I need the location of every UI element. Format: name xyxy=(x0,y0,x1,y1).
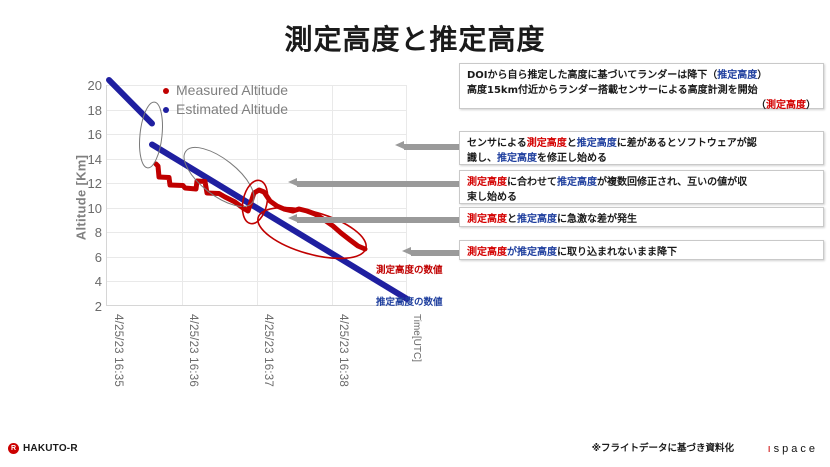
annotation-text-run: が xyxy=(507,247,517,258)
annotation-line: 測定高度が推定高度に取り込まれないまま降下 xyxy=(467,245,816,260)
slide-root: 測定高度と推定高度 Altitude [Km] 2018161412108642 xyxy=(0,0,830,467)
annotation-line: （測定高度） xyxy=(467,98,816,113)
annotation-text-run: 推定高度 xyxy=(517,214,557,225)
y-axis-tick: 2 xyxy=(68,300,102,313)
annotation-line: 測定高度と推定高度に急激な差が発生 xyxy=(467,212,816,227)
y-axis-ticks: 2018161412108642 xyxy=(58,78,102,310)
annotation-text-run: DOIから自ら推定した高度に基づいてランダーは降下（ xyxy=(467,70,717,81)
callout-arrow-2 xyxy=(395,141,459,150)
legend-label: Estimated Altitude xyxy=(176,100,288,119)
x-axis-tick: 4/25/23 16:37 xyxy=(258,314,274,387)
annotation-note-2: センサによる測定高度と推定高度に差があるとソフトウェアが認識し、推定高度を修正し… xyxy=(459,131,824,165)
callout-arrow-3 xyxy=(288,178,459,187)
inline-caption-estimated: 推定高度の数値 xyxy=(376,294,443,308)
chart-legend: Measured AltitudeEstimated Altitude xyxy=(163,81,288,119)
annotation-text-run: に合わせて xyxy=(507,177,557,188)
annotation-text-run: 測定高度 xyxy=(467,177,507,188)
annotation-text-run: 識し、 xyxy=(467,153,497,164)
footer-footnote: ※フライトデータに基づき資料化 xyxy=(592,440,734,454)
annotation-text-run: 推定高度 xyxy=(497,153,537,164)
x-axis-tick: 4/25/23 16:36 xyxy=(183,314,199,387)
annotation-text-run: と xyxy=(567,138,577,149)
hakuto-r-logo: R HAKUTO-R xyxy=(8,443,78,454)
annotation-text-run: を修正し始める xyxy=(537,153,607,164)
annotation-note-1: DOIから自ら推定した高度に基づいてランダーは降下（推定高度）高度15km付近か… xyxy=(459,63,824,109)
y-axis-tick: 10 xyxy=(68,202,102,215)
annotation-text-run: 測定高度 xyxy=(467,214,507,225)
annotation-text-run: に取り込まれないまま降下 xyxy=(557,247,677,258)
annotation-text-run: 高度15km付近からランダー搭載センサーによる高度計測を開始 xyxy=(467,85,758,96)
annotation-text-run: 束し始める xyxy=(467,192,517,203)
y-axis-tick: 8 xyxy=(68,226,102,239)
annotation-text-run: 推定高度 xyxy=(557,177,597,188)
inline-caption-measured: 測定高度の数値 xyxy=(376,262,443,276)
hakuto-mark-icon: R xyxy=(8,443,19,454)
y-axis-tick: 12 xyxy=(68,177,102,190)
y-axis-tick: 16 xyxy=(68,128,102,141)
annotation-line: 識し、推定高度を修正し始める xyxy=(467,151,816,166)
legend-dot-icon xyxy=(163,88,169,94)
annotation-text-run: 測定高度 xyxy=(527,138,567,149)
annotation-line: 高度15km付近からランダー搭載センサーによる高度計測を開始 xyxy=(467,83,816,98)
footer: R HAKUTO-R ※フライトデータに基づき資料化 ıspace xyxy=(0,431,830,467)
annotation-line: DOIから自ら推定した高度に基づいてランダーは降下（推定高度） xyxy=(467,68,816,83)
callout-arrow-5 xyxy=(402,247,459,256)
annotation-text-run: 測定高度 xyxy=(467,247,507,258)
highlight-ellipse-3 xyxy=(239,178,272,226)
annotation-text-run: ） xyxy=(806,100,816,111)
annotation-text-run: が複数回修正され、互いの値が収 xyxy=(597,177,747,188)
annotation-note-3: 測定高度に合わせて推定高度が複数回修正され、互いの値が収束し始める xyxy=(459,170,824,204)
annotation-text-run: 推定高度 xyxy=(577,138,617,149)
annotation-text-run: 推定高度 xyxy=(517,247,557,258)
legend-dot-icon xyxy=(163,107,169,113)
legend-item: Estimated Altitude xyxy=(163,100,288,119)
annotation-text-run: と xyxy=(507,214,517,225)
x-axis-title: Time[UTC] xyxy=(411,314,422,362)
y-axis-tick: 6 xyxy=(68,251,102,264)
annotation-text-run: に急激な差が発生 xyxy=(557,214,637,225)
annotation-line: センサによる測定高度と推定高度に差があるとソフトウェアが認 xyxy=(467,136,816,151)
annotation-text-run: 推定高度 xyxy=(717,70,757,81)
annotation-text-run: ） xyxy=(757,70,767,81)
page-title: 測定高度と推定高度 xyxy=(0,18,830,58)
y-axis-tick: 20 xyxy=(68,79,102,92)
highlight-ellipse-4 xyxy=(252,197,371,268)
x-axis-tick: 4/25/23 16:38 xyxy=(333,314,349,387)
series-estimated-altitude-seg1 xyxy=(109,80,152,124)
altitude-chart: Altitude [Km] 2018161412108642 xyxy=(28,78,448,398)
annotation-text-run: （ xyxy=(756,100,766,111)
callout-arrow-4 xyxy=(288,214,459,223)
annotation-text-run: 測定高度 xyxy=(766,100,806,111)
annotation-text-run: に差があるとソフトウェアが認 xyxy=(617,138,757,149)
legend-label: Measured Altitude xyxy=(176,81,288,100)
series-measured-altitude xyxy=(156,164,365,249)
ispace-label: space xyxy=(774,443,818,455)
annotation-line: 測定高度に合わせて推定高度が複数回修正され、互いの値が収 xyxy=(467,175,816,190)
hakuto-r-brand-text: HAKUTO-R xyxy=(23,443,78,454)
annotation-note-4: 測定高度と推定高度に急激な差が発生 xyxy=(459,207,824,227)
highlight-ellipse-2 xyxy=(175,137,263,217)
annotation-note-5: 測定高度が推定高度に取り込まれないまま降下 xyxy=(459,240,824,260)
ispace-logo: ıspace xyxy=(768,443,818,455)
legend-item: Measured Altitude xyxy=(163,81,288,100)
annotation-text-run: センサによる xyxy=(467,138,527,149)
y-axis-tick: 18 xyxy=(68,104,102,117)
y-axis-tick: 14 xyxy=(68,153,102,166)
y-axis-tick: 4 xyxy=(68,275,102,288)
x-axis-tick: 4/25/23 16:35 xyxy=(108,314,124,387)
annotation-line: 束し始める xyxy=(467,190,816,205)
